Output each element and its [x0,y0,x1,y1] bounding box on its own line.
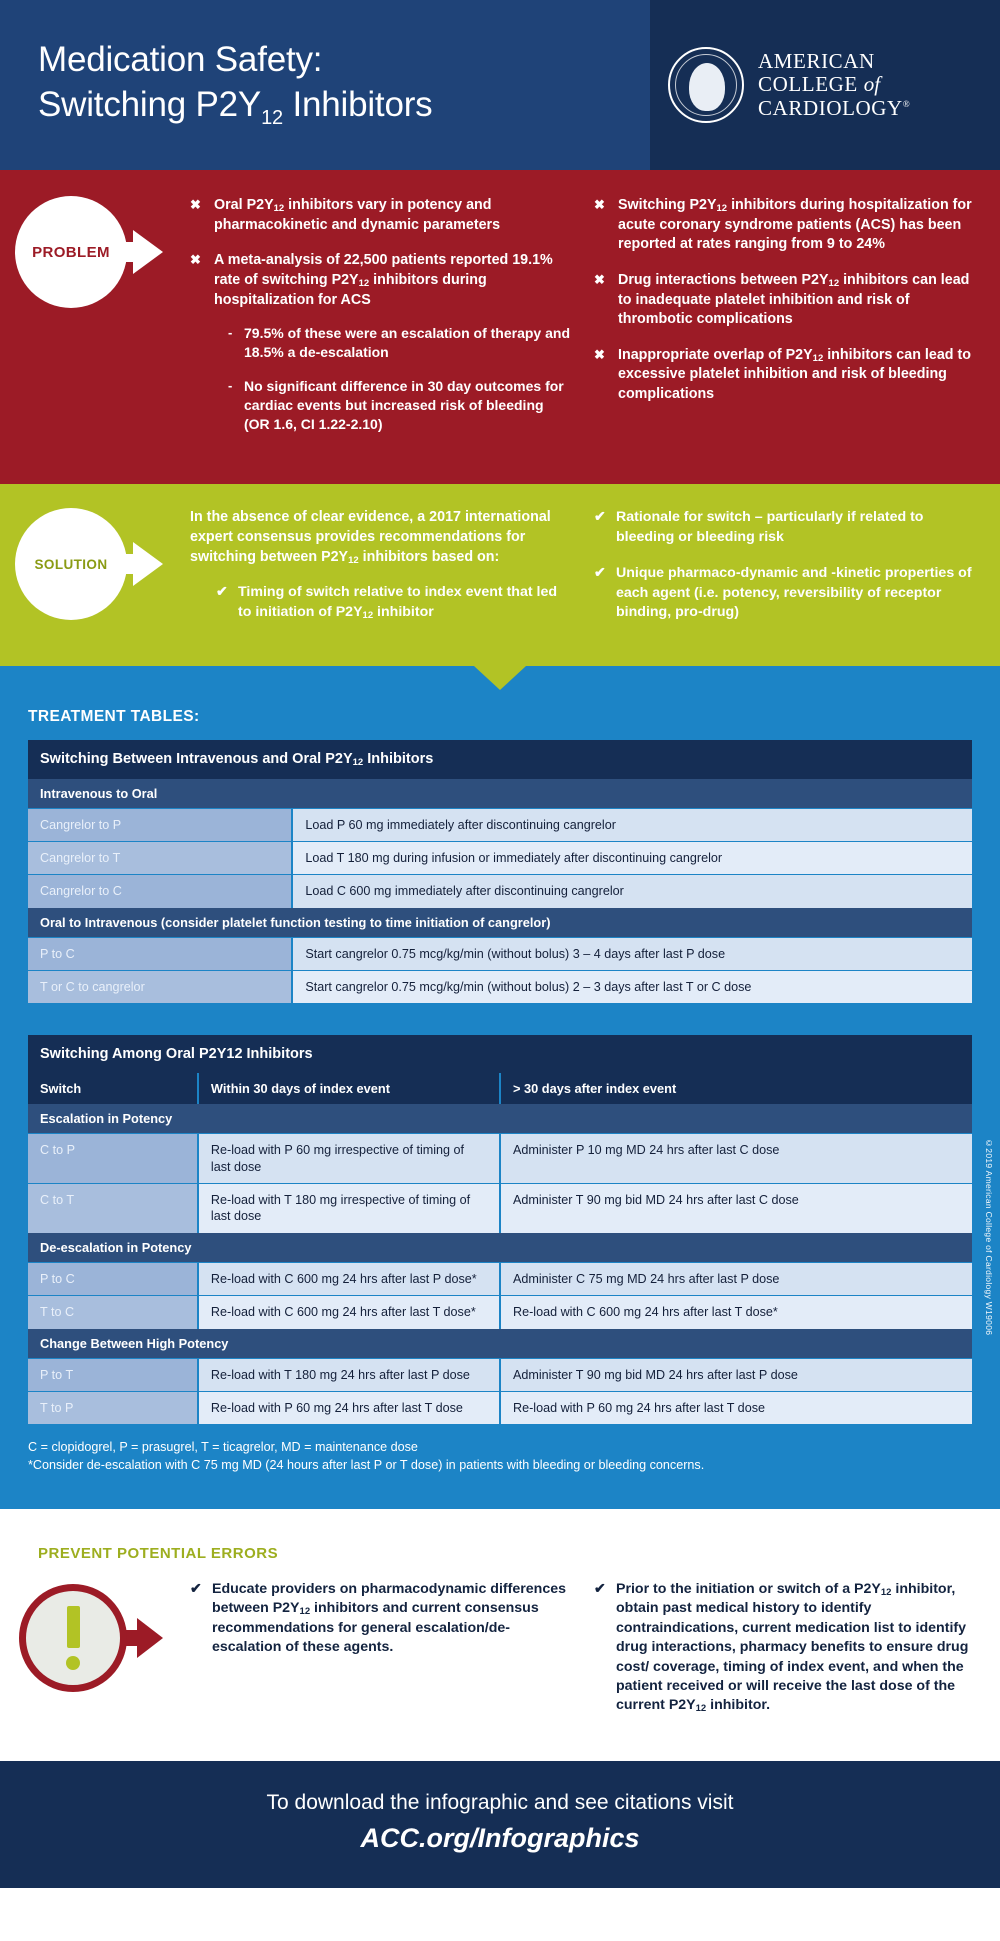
solution-left-column: In the absence of clear evidence, a 2017… [190,508,594,639]
sub-bullet: -79.5% of these were an escalation of th… [228,324,572,362]
table-row: T to CRe-load with C 600 mg 24 hrs after… [28,1296,972,1329]
problem-bullet: ✖Inappropriate overlap of P2Y12 inhibito… [594,346,976,405]
table-cell-value: Administer T 90 mg bid MD 24 hrs after l… [500,1184,972,1233]
table-cell-value: Re-load with C 600 mg 24 hrs after last … [198,1296,500,1329]
table-cell-value: Load T 180 mg during infusion or immedia… [292,841,972,874]
exclamation-warning-icon [19,1584,127,1692]
bullet-text: Unique pharmaco-dynamic and -kinetic pro… [616,565,972,620]
table-cell-value: Re-load with C 600 mg 24 hrs after last … [198,1262,500,1295]
table-row: Cangrelor to CLoad C 600 mg immediately … [28,875,972,908]
table-section-row: De-escalation in Potency [28,1233,972,1263]
table-cell-value: Re-load with T 180 mg 24 hrs after last … [198,1358,500,1391]
table-cell-value: Administer C 75 mg MD 24 hrs after last … [500,1262,972,1295]
bullet-marker: ✖ [190,251,201,269]
table-cell-key: C to T [28,1184,198,1233]
page-title-line2: Switching P2Y12 Inhibitors [38,83,432,132]
solution-check: ✔Unique pharmaco-dynamic and -kinetic pr… [594,564,976,622]
page-header: Medication Safety: Switching P2Y12 Inhib… [0,0,1000,170]
table-cell-value: Start cangrelor 0.75 mcg/kg/min (without… [292,970,972,1003]
acc-wordmark: AMERICAN COLLEGE of CARDIOLOGY® [758,50,910,121]
p2y12-subscript: 12 [363,610,374,621]
problem-badge-label: PROBLEM [32,244,110,261]
solution-badge: SOLUTION [0,508,190,626]
table-cell-key: T to C [28,1296,198,1329]
table-cell-key: Cangrelor to C [28,875,292,908]
bullet-text: Educate providers on pharmacodynamic dif… [212,1581,566,1655]
table-cell-key: P to C [28,1262,198,1295]
p2y12-subscript: 12 [261,107,283,129]
table-cell-key: Cangrelor to P [28,808,292,841]
solution-section: SOLUTION In the absence of clear evidenc… [0,484,1000,665]
problem-left-bullets: ✖Oral P2Y12 inhibitors vary in potency a… [190,196,572,434]
solution-right-column: ✔Rationale for switch – particularly if … [594,508,1000,639]
table-section-label: Escalation in Potency [28,1104,972,1134]
table-title: Switching Among Oral P2Y12 Inhibitors [28,1035,972,1073]
bullet-marker: ✔ [594,507,606,526]
table-section-label: Change Between High Potency [28,1329,972,1359]
table-cell-value: Administer P 10 mg MD 24 hrs after last … [500,1134,972,1184]
acc-wordmark-line1: AMERICAN [758,50,910,74]
table-cell-value: Re-load with P 60 mg 24 hrs after last T… [500,1391,972,1424]
prevent-errors-title: PREVENT POTENTIAL ERRORS [0,1545,1000,1562]
dash-marker: - [228,324,232,342]
table-section-row: Intravenous to Oral [28,779,972,809]
solution-check: ✔Rationale for switch – particularly if … [594,508,976,547]
table-column-header: Within 30 days of index event [198,1073,500,1104]
solution-intro: In the absence of clear evidence, a 2017… [190,508,572,567]
table-cell-value: Re-load with P 60 mg irrespective of tim… [198,1134,500,1184]
table-notes: C = clopidogrel, P = prasugrel, T = tica… [28,1438,972,1475]
table-oral-oral: Switching Among Oral P2Y12 InhibitorsSwi… [28,1035,972,1424]
table-cell-value: Re-load with P 60 mg 24 hrs after last T… [198,1391,500,1424]
table-cell-value: Administer T 90 mg bid MD 24 hrs after l… [500,1358,972,1391]
bullet-text: A meta-analysis of 22,500 patients repor… [214,252,553,307]
table-cell-value: Load C 600 mg immediately after disconti… [292,875,972,908]
table-column-header: Switch [28,1073,198,1104]
prevent-badge [0,1580,190,1700]
acc-logo: AMERICAN COLLEGE of CARDIOLOGY® [650,0,1000,170]
table-title-row: Switching Between Intravenous and Oral P… [28,740,972,779]
prevent-right-checks: ✔Prior to the initiation or switch of a … [594,1580,976,1716]
prevent-check: ✔Prior to the initiation or switch of a … [594,1580,976,1716]
table-row: C to TRe-load with T 180 mg irrespective… [28,1184,972,1233]
problem-right-bullets: ✖Switching P2Y12 inhibitors during hospi… [594,196,976,404]
p2y12-subscript: 12 [274,203,285,214]
treatment-tables-label: TREATMENT TABLES: [28,708,972,726]
bullet-marker: ✖ [594,196,605,214]
table-section-label: Intravenous to Oral [28,779,972,809]
treatment-tables-section: TREATMENT TABLES: Switching Between Intr… [0,666,1000,1509]
solution-left-checks: ✔Timing of switch relative to index even… [216,583,572,622]
table-footnote: *Consider de-escalation with C 75 mg MD … [28,1456,972,1474]
table-row: P to CStart cangrelor 0.75 mcg/kg/min (w… [28,937,972,970]
table-cell-value: Start cangrelor 0.75 mcg/kg/min (without… [292,937,972,970]
header-title-block: Medication Safety: Switching P2Y12 Inhib… [0,0,650,170]
p2y12-subscript: 12 [717,203,728,214]
p2y12-subscript: 12 [300,1606,311,1617]
bullet-text: Inappropriate overlap of P2Y12 inhibitor… [618,347,971,402]
table-title: Switching Between Intravenous and Oral P… [28,740,972,779]
table-column-header: > 30 days after index event [500,1073,972,1104]
table-row: P to TRe-load with T 180 mg 24 hrs after… [28,1358,972,1391]
sub-bullet-text: 79.5% of these were an escalation of the… [244,325,570,360]
problem-section: PROBLEM ✖Oral P2Y12 inhibitors vary in p… [0,170,1000,484]
footer-url[interactable]: ACC.org/Infographics [0,1823,1000,1854]
sub-bullet: -No significant difference in 30 day out… [228,377,572,434]
table-footnote: C = clopidogrel, P = prasugrel, T = tica… [28,1438,972,1456]
table-row: T to PRe-load with P 60 mg 24 hrs after … [28,1391,972,1424]
bullet-text: Oral P2Y12 inhibitors vary in potency an… [214,197,500,233]
table-row: T or C to cangrelorStart cangrelor 0.75 … [28,970,972,1003]
sub-bullet-text: No significant difference in 30 day outc… [244,378,564,432]
prevent-errors-section: PREVENT POTENTIAL ERRORS ✔Educate provid… [0,1509,1000,1761]
problem-bullet: ✖Drug interactions between P2Y12 inhibit… [594,271,976,330]
bullet-text: Prior to the initiation or switch of a P… [616,1581,968,1714]
problem-bullet: ✖A meta-analysis of 22,500 patients repo… [190,251,572,434]
bullet-marker: ✖ [594,346,605,364]
acc-wordmark-line2: COLLEGE of [758,73,910,97]
table-row: Cangrelor to PLoad P 60 mg immediately a… [28,808,972,841]
problem-bullet: ✖Switching P2Y12 inhibitors during hospi… [594,196,976,255]
bullet-marker: ✖ [594,271,605,289]
prevent-check: ✔Educate providers on pharmacodynamic di… [190,1580,572,1658]
problem-badge: PROBLEM [0,196,190,314]
table-title-row: Switching Among Oral P2Y12 Inhibitors [28,1035,972,1073]
table-section-row: Oral to Intravenous (consider platelet f… [28,908,972,938]
infographic-page: Medication Safety: Switching P2Y12 Inhib… [0,0,1000,1888]
copyright-text: ©2019 American College of Cardiology W19… [984,1138,994,1335]
table-section-label: Oral to Intravenous (consider platelet f… [28,908,972,938]
bullet-marker: ✖ [190,196,201,214]
solution-columns: SOLUTION In the absence of clear evidenc… [0,508,1000,639]
table-cell-key: P to C [28,937,292,970]
problem-bullet: ✖Oral P2Y12 inhibitors vary in potency a… [190,196,572,235]
dash-marker: - [228,377,232,395]
table-cell-key: Cangrelor to T [28,841,292,874]
bullet-marker: ✔ [216,582,228,601]
bullet-text: Switching P2Y12 inhibitors during hospit… [618,197,972,252]
problem-right-column: ✖Switching P2Y12 inhibitors during hospi… [594,196,1000,420]
bullet-marker: ✔ [190,1579,202,1598]
solution-check: ✔Timing of switch relative to index even… [216,583,572,622]
table-header-row: SwitchWithin 30 days of index event> 30 … [28,1073,972,1104]
prevent-left-column: ✔Educate providers on pharmacodynamic di… [190,1580,594,1675]
acc-wordmark-line3: CARDIOLOGY® [758,97,910,121]
p2y12-subscript: 12 [696,1703,707,1714]
p2y12-subscript: 12 [359,278,370,289]
table-row: P to CRe-load with C 600 mg 24 hrs after… [28,1262,972,1295]
bullet-text: Timing of switch relative to index event… [238,584,557,619]
table-cell-key: T or C to cangrelor [28,970,292,1003]
table-cell-key: P to T [28,1358,198,1391]
p2y12-subscript: 12 [829,278,840,289]
bullet-text: Rationale for switch – particularly if r… [616,509,923,544]
table-cell-value: Load P 60 mg immediately after discontin… [292,808,972,841]
bullet-text: Drug interactions between P2Y12 inhibito… [618,272,969,327]
page-title-line1: Medication Safety: [38,38,432,83]
footer-caption: To download the infographic and see cita… [0,1791,1000,1815]
problem-left-column: ✖Oral P2Y12 inhibitors vary in potency a… [190,196,594,450]
table-row: C to PRe-load with P 60 mg irrespective … [28,1134,972,1184]
page-title: Medication Safety: Switching P2Y12 Inhib… [38,38,432,131]
table-section-label: De-escalation in Potency [28,1233,972,1263]
table-cell-key: T to P [28,1391,198,1424]
table-row: Cangrelor to TLoad T 180 mg during infus… [28,841,972,874]
solution-badge-label: SOLUTION [35,557,108,572]
problem-columns: PROBLEM ✖Oral P2Y12 inhibitors vary in p… [0,196,1000,450]
table-cell-key: C to P [28,1134,198,1184]
table-iv-oral: Switching Between Intravenous and Oral P… [28,740,972,1004]
bullet-marker: ✔ [594,563,606,582]
p2y12-subscript: 12 [353,757,364,768]
prevent-right-column: ✔Prior to the initiation or switch of a … [594,1580,1000,1733]
p2y12-subscript: 12 [881,1587,892,1598]
acc-seal-icon [668,47,744,123]
page-footer: To download the infographic and see cita… [0,1761,1000,1888]
p2y12-subscript: 12 [348,555,359,566]
p2y12-subscript: 12 [813,353,824,364]
sub-bullets: -79.5% of these were an escalation of th… [228,324,572,434]
table-cell-value: Re-load with C 600 mg 24 hrs after last … [500,1296,972,1329]
prevent-columns: ✔Educate providers on pharmacodynamic di… [0,1580,1000,1733]
bullet-marker: ✔ [594,1579,606,1598]
table-section-row: Change Between High Potency [28,1329,972,1359]
prevent-left-checks: ✔Educate providers on pharmacodynamic di… [190,1580,572,1658]
table-cell-value: Re-load with T 180 mg irrespective of ti… [198,1184,500,1233]
solution-right-checks: ✔Rationale for switch – particularly if … [594,508,976,622]
table-section-row: Escalation in Potency [28,1104,972,1134]
